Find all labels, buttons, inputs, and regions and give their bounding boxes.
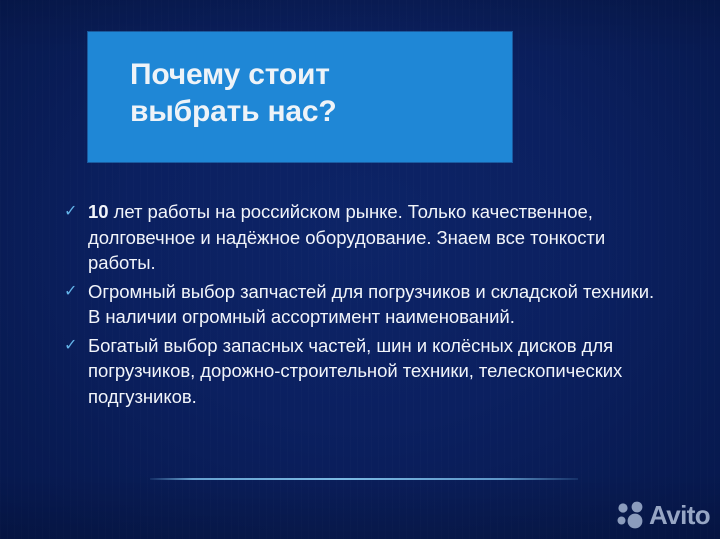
avito-watermark: Avito xyxy=(614,498,710,532)
list-item-lead: 10 xyxy=(88,201,108,222)
check-icon: ✓ xyxy=(62,333,88,358)
list-item-body: лет работы на российском рынке. Только к… xyxy=(88,201,605,273)
slide-canvas: Почему стоит выбрать нас? ✓ 10 лет работ… xyxy=(0,0,720,539)
list-item-body: Огромный выбор запчастей для погрузчиков… xyxy=(88,281,654,328)
divider xyxy=(150,478,578,480)
check-icon: ✓ xyxy=(62,199,88,224)
title-banner: Почему стоит выбрать нас? xyxy=(88,32,512,162)
avito-wordmark: Avito xyxy=(649,498,710,532)
list-item-body: Богатый выбор запасных частей, шин и кол… xyxy=(88,335,622,407)
list-item-text: 10 лет работы на российском рынке. Тольк… xyxy=(88,199,670,276)
list-item: ✓ 10 лет работы на российском рынке. Тол… xyxy=(62,199,670,276)
list-item-text: Огромный выбор запчастей для погрузчиков… xyxy=(88,279,670,330)
benefits-list: ✓ 10 лет работы на российском рынке. Тол… xyxy=(62,199,670,412)
list-item: ✓ Огромный выбор запчастей для погрузчик… xyxy=(62,279,670,330)
list-item: ✓ Богатый выбор запасных частей, шин и к… xyxy=(62,333,670,410)
list-item-text: Богатый выбор запасных частей, шин и кол… xyxy=(88,333,670,410)
page-title: Почему стоит выбрать нас? xyxy=(130,56,498,130)
check-icon: ✓ xyxy=(62,279,88,304)
avito-dots-logo-icon xyxy=(614,498,648,532)
